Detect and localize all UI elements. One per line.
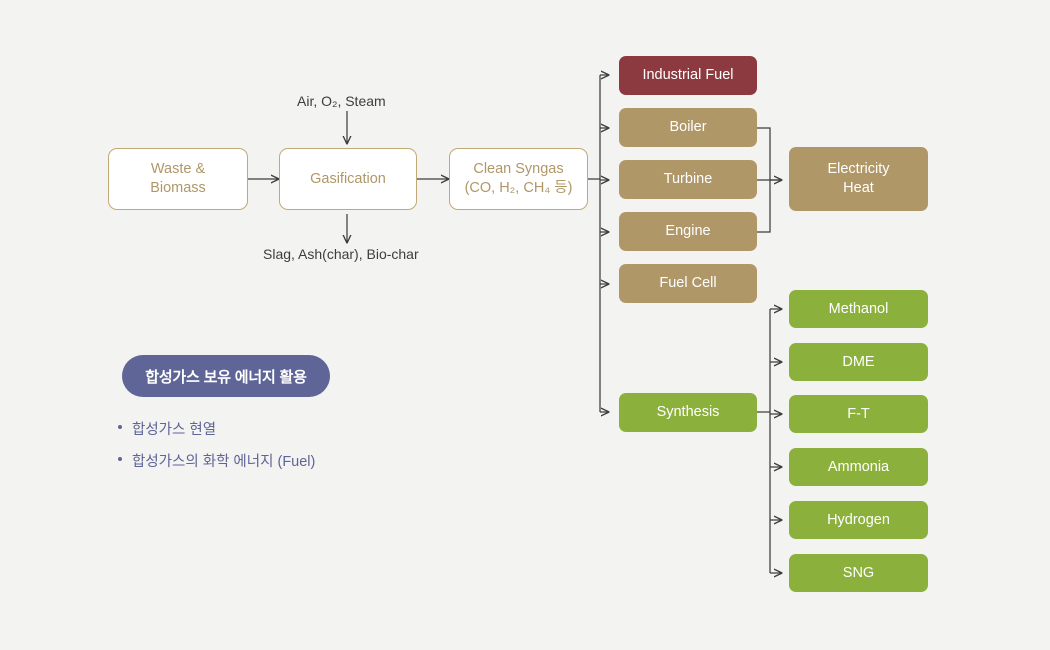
node-ammonia[interactable]: Ammonia xyxy=(789,448,928,486)
legend-list: 합성가스 현열 합성가스의 화학 에너지 (Fuel) xyxy=(116,418,315,482)
node-turbine[interactable]: Turbine xyxy=(619,160,757,199)
node-electricity-heat[interactable]: Electricity Heat xyxy=(789,147,928,211)
node-ft[interactable]: F-T xyxy=(789,395,928,433)
list-item: 합성가스의 화학 에너지 (Fuel) xyxy=(116,450,315,471)
node-boiler[interactable]: Boiler xyxy=(619,108,757,147)
node-waste-biomass[interactable]: Waste & Biomass xyxy=(108,148,248,210)
node-industrial-fuel[interactable]: Industrial Fuel xyxy=(619,56,757,95)
node-methanol[interactable]: Methanol xyxy=(789,290,928,328)
list-item: 합성가스 현열 xyxy=(116,418,315,439)
label-byproducts: Slag, Ash(char), Bio-char xyxy=(263,246,419,262)
node-sng[interactable]: SNG xyxy=(789,554,928,592)
diagram-canvas: Waste & Biomass Gasification Clean Synga… xyxy=(0,0,1050,650)
node-clean-syngas[interactable]: Clean Syngas (CO, H₂, CH₄ 등) xyxy=(449,148,588,210)
node-dme[interactable]: DME xyxy=(789,343,928,381)
node-gasification[interactable]: Gasification xyxy=(279,148,417,210)
node-engine[interactable]: Engine xyxy=(619,212,757,251)
legend-pill: 합성가스 보유 에너지 활용 xyxy=(122,355,330,397)
node-synthesis[interactable]: Synthesis xyxy=(619,393,757,432)
node-fuel-cell[interactable]: Fuel Cell xyxy=(619,264,757,303)
label-gasifying-agents: Air, O₂, Steam xyxy=(297,93,386,109)
node-hydrogen[interactable]: Hydrogen xyxy=(789,501,928,539)
